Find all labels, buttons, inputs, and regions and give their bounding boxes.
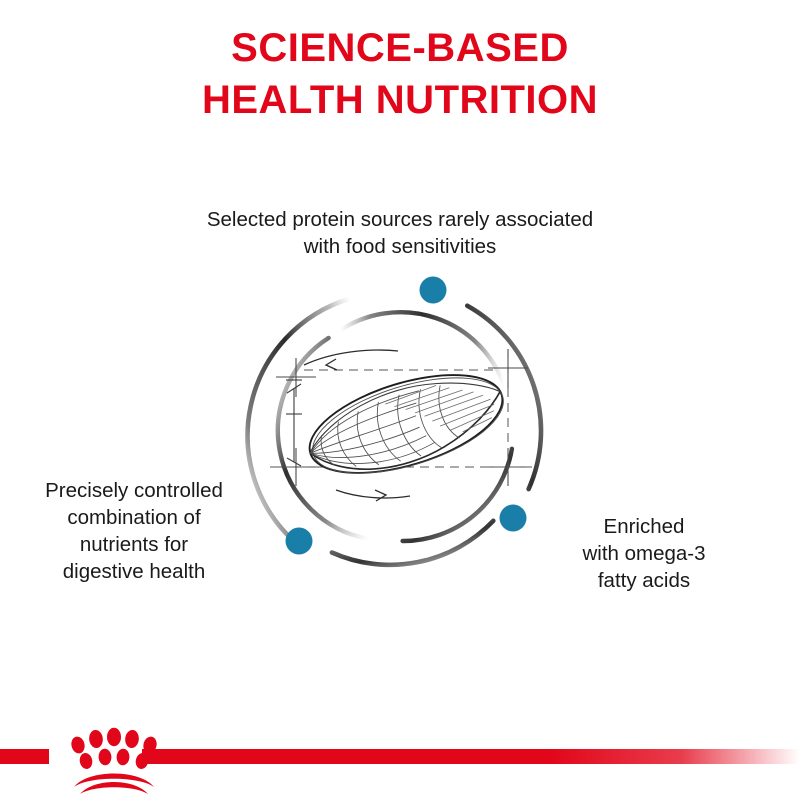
kibble-body: [298, 355, 514, 493]
callout-digestive-health-line-1: Precisely controlled: [14, 477, 254, 504]
footer-brand-bar: [0, 715, 800, 800]
inner-arc-top: [341, 312, 505, 385]
callout-digestive-health-line-4: digestive health: [14, 558, 254, 585]
product-feature-panel: SCIENCE-BASED HEALTH NUTRITION Selected …: [0, 0, 800, 800]
footer-bar-left-segment: [0, 749, 49, 764]
callout-digestive-health-line-3: nutrients for: [14, 531, 254, 558]
kibble-diagram: [240, 262, 570, 602]
royal-canin-crown-logo: [70, 728, 159, 794]
blueprint-dimension-vertical: [286, 380, 302, 466]
callout-protein-sources: Selected protein sources rarely associat…: [150, 206, 650, 260]
page-title-line-2: HEALTH NUTRITION: [0, 74, 800, 126]
callout-protein-sources-line-2: with food sensitivities: [150, 233, 650, 260]
footer-bar-right-segment: [142, 749, 800, 764]
node-bottom-left[interactable]: [286, 528, 313, 555]
callout-digestive-health: Precisely controlled combination of nutr…: [14, 477, 254, 585]
page-title-line-1: SCIENCE-BASED: [0, 22, 800, 74]
node-top[interactable]: [420, 277, 447, 304]
page-title: SCIENCE-BASED HEALTH NUTRITION: [0, 22, 800, 126]
callout-protein-sources-line-1: Selected protein sources rarely associat…: [150, 206, 650, 233]
callout-digestive-health-line-2: combination of: [14, 504, 254, 531]
node-bottom-right[interactable]: [500, 505, 527, 532]
kibble-sketch: [270, 349, 532, 501]
